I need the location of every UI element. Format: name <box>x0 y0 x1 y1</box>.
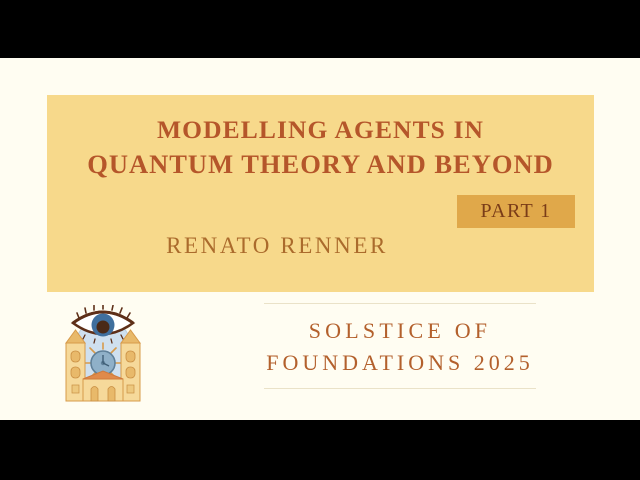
part-badge-label: PART 1 <box>480 200 551 223</box>
title-panel: MODELLING AGENTS IN QUANTUM THEORY AND B… <box>47 95 594 292</box>
event-line-1: SOLSTICE OF <box>200 304 600 347</box>
slide-canvas: MODELLING AGENTS IN QUANTUM THEORY AND B… <box>0 58 640 420</box>
event-block: SOLSTICE OF FOUNDATIONS 2025 <box>200 303 600 389</box>
letterbox-bar-bottom <box>0 420 640 480</box>
divider-bottom <box>264 388 536 389</box>
speaker-name: RENATO RENNER <box>47 233 507 259</box>
title-block: MODELLING AGENTS IN QUANTUM THEORY AND B… <box>47 113 594 181</box>
part-badge: PART 1 <box>457 195 575 228</box>
title-line-2: QUANTUM THEORY AND BEYOND <box>47 147 594 181</box>
letterbox-bar-top <box>0 0 640 58</box>
title-line-1: MODELLING AGENTS IN <box>47 113 594 147</box>
event-line-2: FOUNDATIONS 2025 <box>200 347 600 379</box>
grossmunster-eye-logo <box>55 305 151 406</box>
slide-root: MODELLING AGENTS IN QUANTUM THEORY AND B… <box>0 0 640 480</box>
